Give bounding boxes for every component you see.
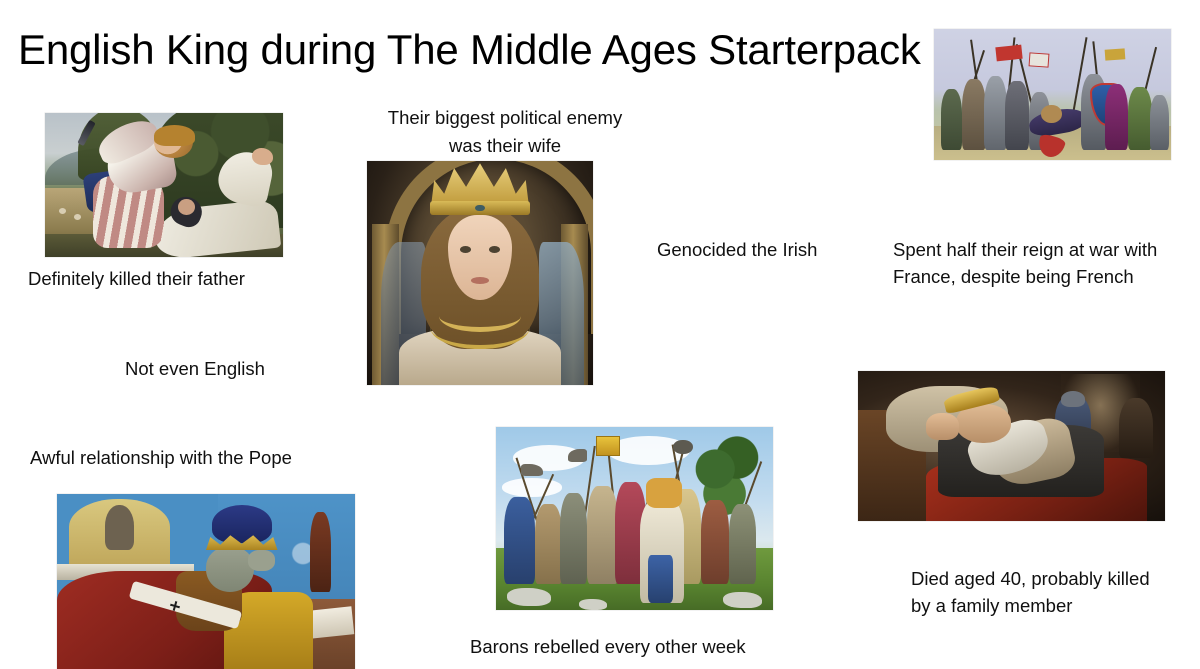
page-title: English King during The Middle Ages Star… — [18, 26, 921, 73]
caption-war-with-france: Spent half their reign at war with Franc… — [893, 237, 1161, 291]
caption-barons-rebelled: Barons rebelled every other week — [470, 634, 790, 661]
caption-not-english: Not even English — [125, 356, 425, 383]
image-dying-king — [858, 371, 1165, 521]
caption-genocided-irish: Genocided the Irish — [657, 237, 877, 264]
image-queen-portrait — [367, 161, 593, 385]
image-battle-knights — [934, 29, 1171, 160]
caption-died-aged-40: Died aged 40, probably killed by a famil… — [911, 566, 1151, 620]
caption-killed-father: Definitely killed their father — [28, 266, 328, 293]
meme-canvas: English King during The Middle Ages Star… — [0, 0, 1200, 669]
image-murder-painting — [45, 113, 283, 257]
image-rebels-uprising — [496, 427, 773, 610]
image-pope-portrait — [57, 494, 355, 669]
caption-pope-relationship: Awful relationship with the Pope — [30, 445, 390, 472]
caption-wife-enemy: Their biggest political enemy was their … — [380, 104, 630, 160]
